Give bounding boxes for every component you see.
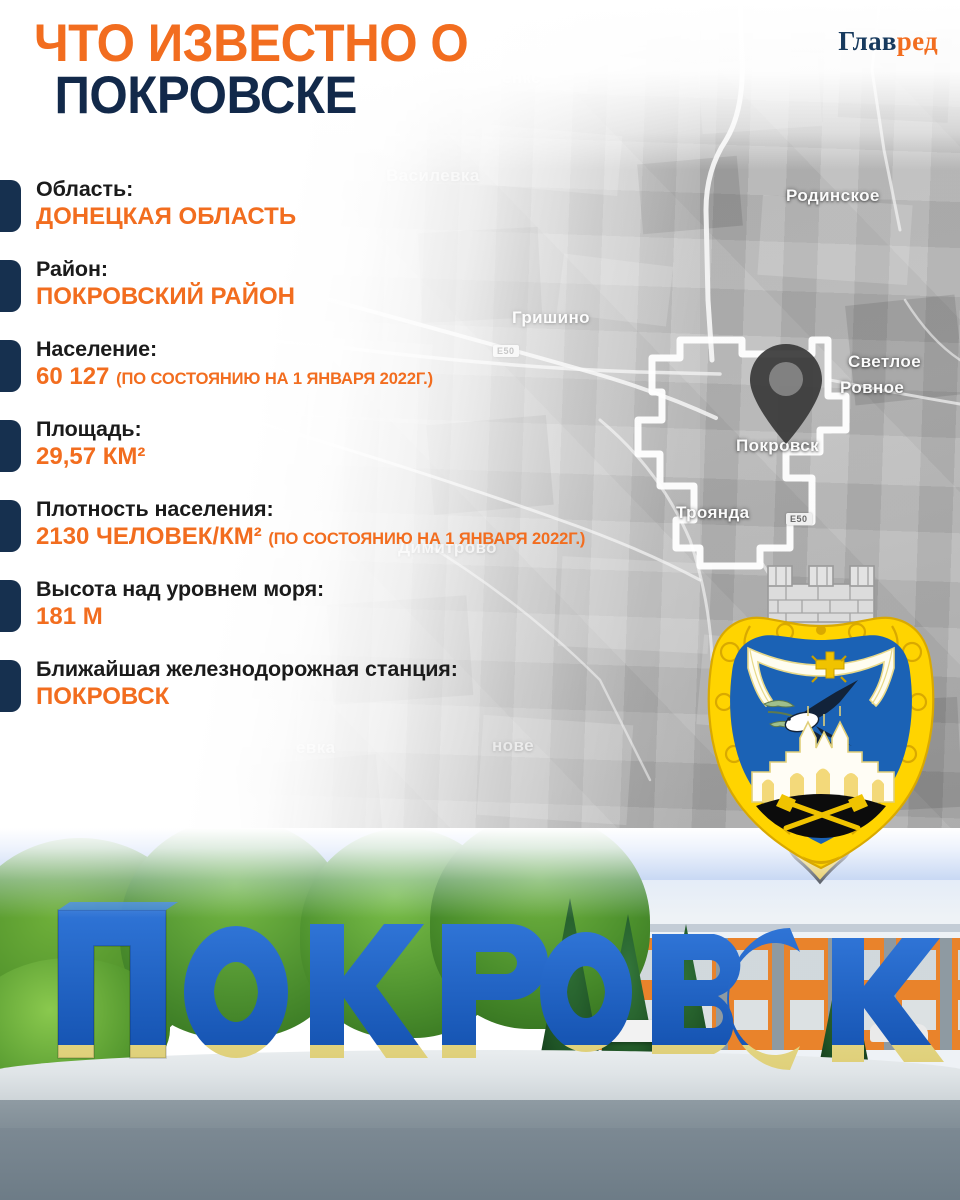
page-title-line2: ПОКРОВСКЕ xyxy=(34,70,592,122)
fact-value: 60 127 (ПО СОСТОЯНИЮ НА 1 ЯНВАРЯ 2022Г.) xyxy=(36,363,760,392)
fact-value: ПОКРОВСК xyxy=(36,683,760,712)
pokrovsk-city-sign-photo xyxy=(0,828,960,1200)
fact-value: ПОКРОВСКИЙ РАЙОН xyxy=(36,283,760,312)
fact-item-railway-station: Ближайшая железнодорожная станция: ПОКРО… xyxy=(0,656,760,712)
sign-letter-o xyxy=(184,926,288,1058)
bullet-marker xyxy=(0,260,21,312)
fact-label: Ближайшая железнодорожная станция: xyxy=(36,656,760,682)
sign-letter-k xyxy=(310,924,428,1058)
fact-label: Плотность населения: xyxy=(36,496,760,522)
glavred-logo-part1: Глав xyxy=(838,26,897,56)
glavred-logo-part2: ред xyxy=(897,26,938,56)
fact-value-number: 60 127 xyxy=(36,363,109,390)
bullet-marker xyxy=(0,660,21,712)
page-title: ЧТО ИЗВЕСТНО О ПОКРОВСКЕ xyxy=(34,18,592,123)
bullet-marker xyxy=(0,180,21,232)
bullet-marker xyxy=(0,420,21,472)
fact-value-note: (ПО СОСТОЯНИЮ НА 1 ЯНВАРЯ 2022Г.) xyxy=(116,370,433,388)
fact-list: Область: ДОНЕЦКАЯ ОБЛАСТЬ Район: ПОКРОВС… xyxy=(0,176,760,736)
sign-letter-k xyxy=(832,938,944,1062)
map-label-nove: нове xyxy=(492,736,534,756)
fact-value-number: 2130 ЧЕЛОВЕК/КМ² xyxy=(36,523,262,550)
map-label-evka: евка xyxy=(296,738,335,758)
fact-value-note: (ПО СОСТОЯНИЮ НА 1 ЯНВАРЯ 2022Г.) xyxy=(268,530,585,548)
fact-item-area: Площадь: 29,57 КМ² xyxy=(0,416,760,472)
fact-label: Площадь: xyxy=(36,416,760,442)
map-label-rovnoe: Ровное xyxy=(840,378,904,398)
bullet-marker xyxy=(0,340,21,392)
fact-value: 2130 ЧЕЛОВЕК/КМ² (ПО СОСТОЯНИЮ НА 1 ЯНВА… xyxy=(36,523,760,552)
bullet-marker xyxy=(0,580,21,632)
map-label-rodinskoe: Родинское xyxy=(786,186,880,206)
fact-label: Район: xyxy=(36,256,760,282)
bullet-marker xyxy=(0,500,21,552)
fact-item-oblast: Область: ДОНЕЦКАЯ ОБЛАСТЬ xyxy=(0,176,760,232)
sign-letter-r xyxy=(442,924,548,1058)
fact-item-elevation: Высота над уровнем моря: 181 М xyxy=(0,576,760,632)
infographic-root: E50 E50 Василевка Родинское Гришино Свет… xyxy=(0,0,960,1200)
sign-letter-p xyxy=(58,902,178,1058)
fact-item-population: Население: 60 127 (ПО СОСТОЯНИЮ НА 1 ЯНВ… xyxy=(0,336,760,392)
fact-label: Область: xyxy=(36,176,760,202)
fact-label: Высота над уровнем моря: xyxy=(36,576,760,602)
fact-label: Население: xyxy=(36,336,760,362)
fact-item-density: Плотность населения: 2130 ЧЕЛОВЕК/КМ² (П… xyxy=(0,496,760,552)
sign-letter-s xyxy=(727,928,800,1070)
fact-value: ДОНЕЦКАЯ ОБЛАСТЬ xyxy=(36,203,760,232)
fact-item-rayon: Район: ПОКРОВСКИЙ РАЙОН xyxy=(0,256,760,312)
glavred-logo[interactable]: Главред xyxy=(838,26,938,57)
fact-value: 181 М xyxy=(36,603,760,632)
fact-value: 29,57 КМ² xyxy=(36,443,760,472)
page-title-line1: ЧТО ИЗВЕСТНО О xyxy=(34,18,592,70)
sign-letter-o xyxy=(540,932,632,1052)
map-label-svetloe: Светлое xyxy=(848,352,921,372)
sign-letter-v xyxy=(652,934,740,1054)
road-shield-e50: E50 xyxy=(786,513,812,525)
